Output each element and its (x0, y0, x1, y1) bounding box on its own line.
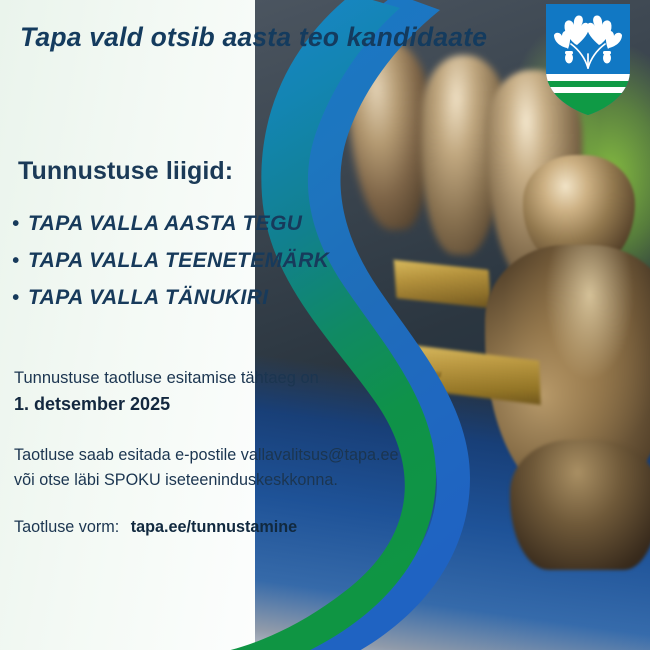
bullet-icon: • (12, 251, 28, 271)
poster-title: Tapa vald otsib aasta teo kandidaate (20, 22, 487, 53)
shield-band-white-1 (545, 74, 631, 81)
application-form-block: Taotluse vorm: tapa.ee/tunnustamine (14, 518, 297, 537)
list-item: • TAPA VALLA AASTA TEGU (12, 212, 329, 236)
poster-canvas: Aasta tegu (0, 0, 650, 650)
application-form-url[interactable]: tapa.ee/tunnustamine (131, 518, 297, 536)
award-types-list: • TAPA VALLA AASTA TEGU • TAPA VALLA TEE… (12, 212, 329, 323)
deadline-block: Tunnustuse taotluse esitamise tähtaeg on… (14, 367, 319, 417)
contact-line-2: või otse läbi SPOKU iseteeninduskeskkonn… (14, 468, 398, 493)
shield-band-green-2 (545, 93, 631, 116)
application-form-label: Taotluse vorm: (14, 518, 119, 536)
shield-band-white-2 (545, 87, 631, 93)
bullet-icon: • (12, 288, 28, 308)
deadline-lead-text: Tunnustuse taotluse esitamise tähtaeg on (14, 367, 319, 391)
engraved-plaque-small (394, 260, 491, 308)
plaque-engraving-text: Aasta tegu (390, 368, 520, 380)
list-item: • TAPA VALLA TEENETEMÄRK (12, 249, 329, 273)
statuette-foreground-legs (510, 440, 650, 570)
shield-band-green-1 (545, 81, 631, 87)
contact-line-1: Taotluse saab esitada e-postile vallaval… (14, 443, 398, 468)
list-item: • TAPA VALLA TÄNUKIRI (12, 286, 329, 310)
deadline-date: 1. detsember 2025 (14, 391, 319, 417)
tapa-vald-coat-of-arms (545, 4, 631, 116)
acorn-right-icon (603, 51, 611, 64)
bullet-icon: • (12, 214, 28, 234)
acorn-left-icon (565, 51, 573, 64)
award-type-label: TAPA VALLA TEENETEMÄRK (28, 249, 329, 273)
award-types-heading: Tunnustuse liigid: (18, 157, 233, 186)
contact-block: Taotluse saab esitada e-postile vallaval… (14, 443, 398, 493)
award-type-label: TAPA VALLA AASTA TEGU (28, 212, 302, 236)
award-type-label: TAPA VALLA TÄNUKIRI (28, 286, 269, 310)
